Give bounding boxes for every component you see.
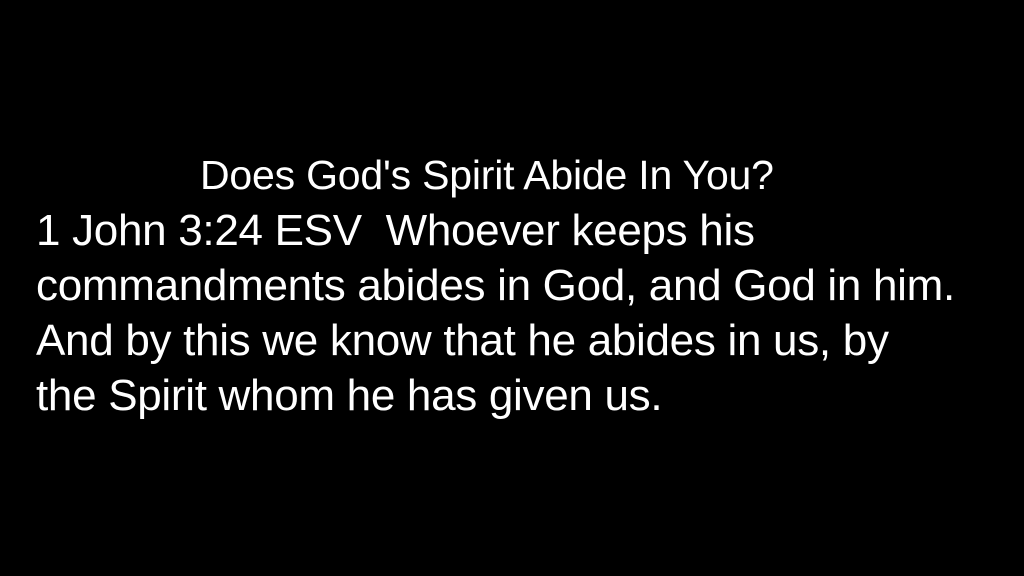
verse-line: And by this we know that he abides in us… — [36, 313, 1006, 368]
verse-line: commandments abides in God, and God in h… — [36, 258, 1006, 313]
slide-text-block: Does God's Spirit Abide In You? 1 John 3… — [0, 148, 1024, 423]
presentation-slide: Does God's Spirit Abide In You? 1 John 3… — [0, 0, 1024, 576]
slide-title: Does God's Spirit Abide In You? — [36, 148, 1006, 203]
verse-line: the Spirit whom he has given us. — [36, 368, 1006, 423]
verse-line: 1 John 3:24 ESV Whoever keeps his — [36, 203, 1006, 258]
